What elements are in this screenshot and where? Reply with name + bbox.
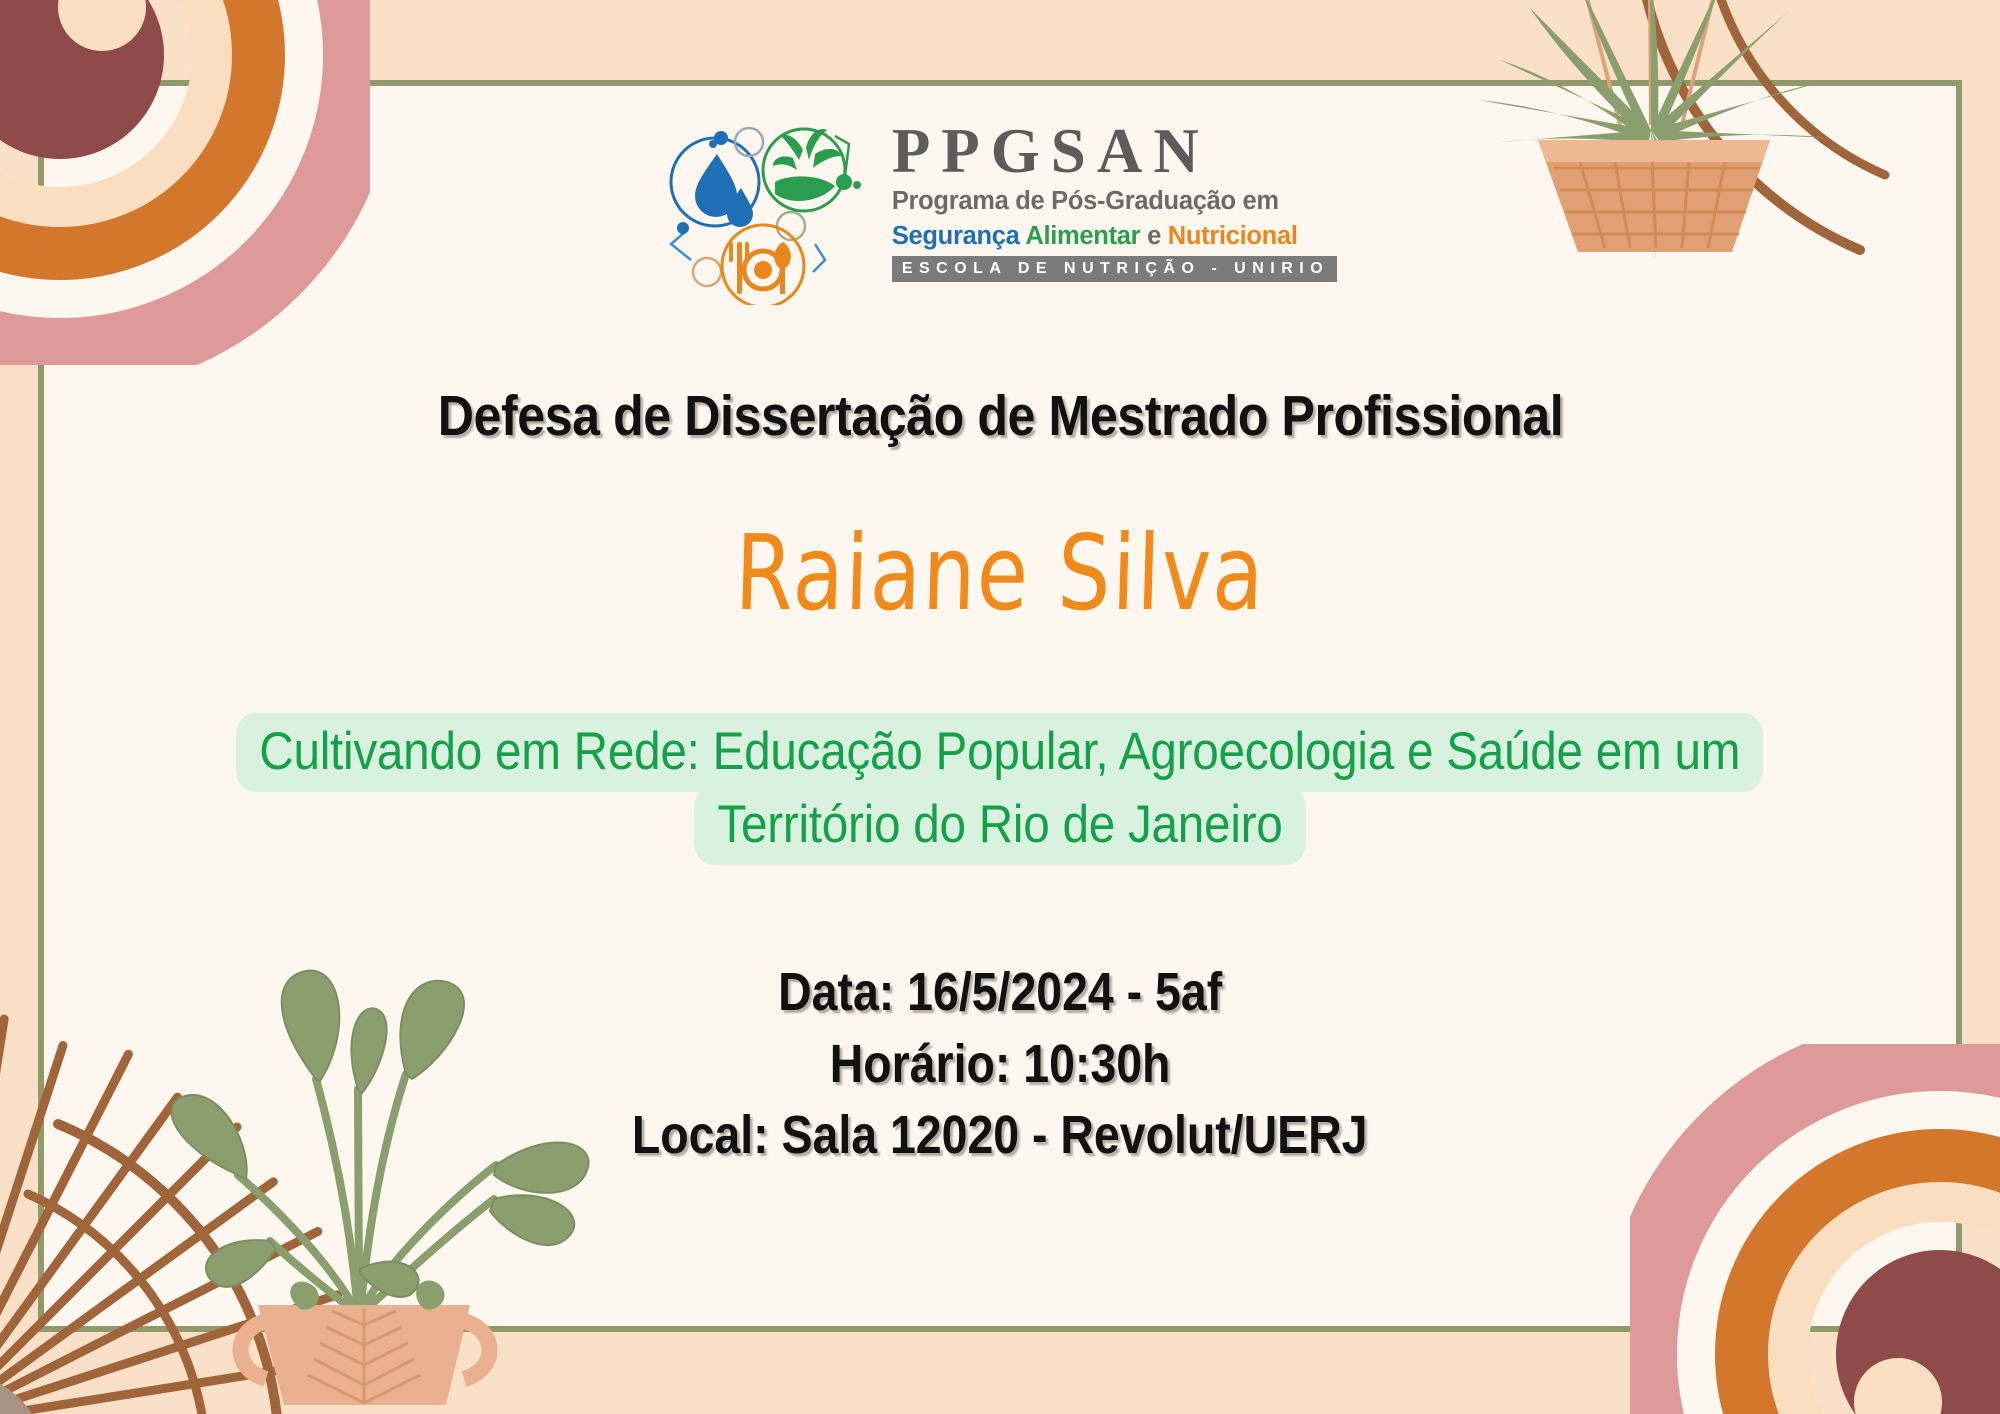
logo-word-nutricional: Nutricional (1168, 222, 1298, 250)
poster-content: PPGSAN Programa de Pós-Graduação em Segu… (0, 0, 2000, 1414)
plate-cutlery-icon (729, 242, 791, 294)
thesis-title-line-2: Território do Rio de Janeiro (694, 786, 1306, 865)
logo-subtitle-line-2: Segurança Alimentar e Nutricional (892, 221, 1337, 253)
thesis-title-line-1: Cultivando em Rede: Educação Popular, Ag… (236, 713, 1764, 792)
student-name: Raiane Silva (734, 521, 1267, 625)
logo-wordmark: PPGSAN Programa de Pós-Graduação em Segu… (892, 120, 1337, 282)
logo-word-e: e (1140, 222, 1167, 250)
event-details: Data: 16/5/2024 - 5af Horário: 10:30h Lo… (572, 957, 1427, 1171)
logo-word-seguranca: Segurança (892, 222, 1020, 250)
logo-acronym: PPGSAN (892, 120, 1337, 183)
logo-icon-cluster (663, 120, 878, 305)
logo-word-alimentar: Alimentar (1025, 222, 1140, 250)
poster-canvas: PPGSAN Programa de Pós-Graduação em Segu… (0, 0, 2000, 1414)
event-headline: Defesa de Dissertação de Mestrado Profis… (437, 383, 1563, 449)
logo-icons-svg (663, 120, 878, 305)
event-time: Horário: 10:30h (830, 1029, 1171, 1100)
ppgsan-logo: PPGSAN Programa de Pós-Graduação em Segu… (663, 120, 1337, 305)
event-location: Local: Sala 12020 - Revolut/UERJ (632, 1100, 1368, 1171)
logo-school-badge: ESCOLA DE NUTRIÇÃO - UNIRIO (892, 256, 1337, 282)
thesis-title: Cultivando em Rede: Educação Popular, Ag… (0, 713, 2000, 865)
logo-subtitle-line-1: Programa de Pós-Graduação em (892, 186, 1337, 218)
event-date: Data: 16/5/2024 - 5af (778, 957, 1222, 1028)
